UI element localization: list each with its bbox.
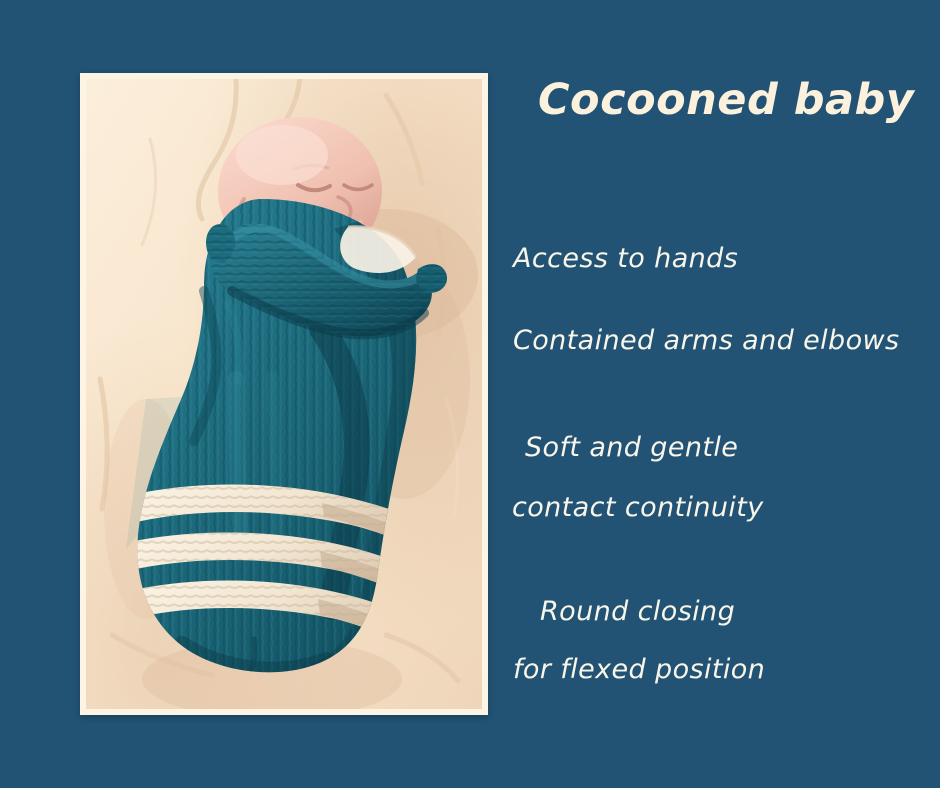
feature-contained-arms-and-elbows: Contained arms and elbows: [513, 325, 899, 357]
page-title: Cocooned baby: [538, 78, 928, 123]
feature-for-flexed-position: for flexed position: [513, 654, 765, 686]
photo-image: [86, 79, 482, 709]
photo-card: [80, 73, 488, 715]
feature-soft-and-gentle: Soft and gentle: [525, 432, 738, 464]
feature-contact-continuity: contact continuity: [512, 492, 764, 524]
text-column: Cocooned baby Access to hands Contained …: [500, 0, 940, 788]
feature-round-closing: Round closing: [540, 596, 735, 628]
baby-cocoon-illustration: [86, 79, 482, 709]
poster-canvas: Cocooned baby Access to hands Contained …: [0, 0, 940, 788]
feature-access-to-hands: Access to hands: [513, 243, 738, 275]
